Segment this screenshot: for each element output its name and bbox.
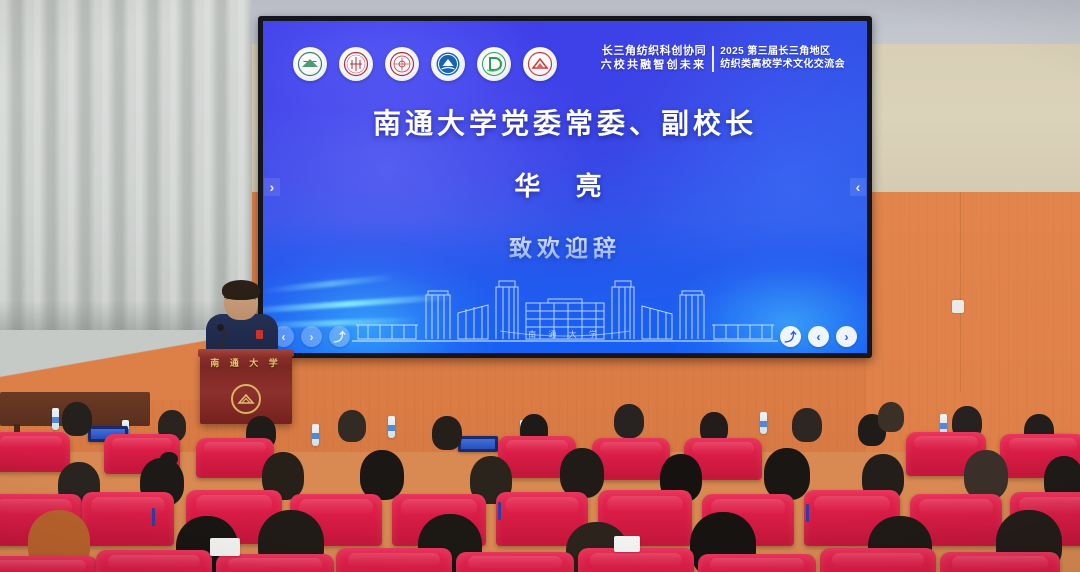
logo-ntu	[293, 47, 327, 81]
attendee-head	[878, 402, 904, 432]
water-bottle	[312, 424, 319, 446]
podium-nameplate: 南 通 大 学	[200, 356, 292, 369]
logo-zhejiang-sci-tech	[431, 47, 465, 81]
attendee-head	[432, 416, 462, 450]
conference-photo: 长三角纺织科创协同 六校共融智创未来 2025 第三届长三角地区 纺织类高校学术…	[0, 0, 1080, 572]
seat	[940, 552, 1060, 572]
banner-right-line-1: 2025 第三届长三角地区	[720, 46, 845, 59]
campus-line-art: 南 通 大 学	[350, 261, 780, 349]
speaker-badge	[256, 330, 263, 339]
seat	[82, 492, 174, 546]
slide-title-line-1: 南通大学党委常委、副校长	[263, 109, 867, 140]
attendee-head	[560, 448, 604, 498]
lanyard	[152, 508, 155, 526]
seat	[0, 432, 70, 472]
banner-left-line-2: 六校共融智创未来	[601, 59, 707, 73]
slide-edge-next-icon[interactable]: ›	[264, 178, 280, 196]
logo-green-d	[477, 47, 511, 81]
slide-banner: 长三角纺织科创协同 六校共融智创未来 2025 第三届长三角地区 纺织类高校学术…	[601, 45, 845, 73]
seat	[96, 550, 212, 572]
slide-edge-prev-icon[interactable]: ‹	[850, 178, 866, 196]
seat	[820, 548, 936, 572]
slide-title-line-2: 华 亮	[263, 166, 867, 203]
microphone-icon	[217, 324, 224, 331]
attendee-hair-bun	[160, 452, 178, 466]
attendee-head	[338, 410, 366, 442]
audience-area	[0, 398, 1080, 572]
attendee-head	[360, 450, 404, 500]
wall-outlet	[952, 300, 964, 313]
wall-seam	[960, 192, 961, 392]
handout-paper	[210, 538, 240, 556]
seat	[216, 554, 334, 572]
water-bottle	[388, 416, 395, 438]
attendee-head	[614, 404, 644, 438]
logo-donghua	[339, 47, 373, 81]
speaker-glasses	[226, 297, 256, 305]
banner-divider	[712, 46, 714, 72]
slide-next-icon[interactable]: ›	[836, 326, 857, 347]
logo-red-mountain	[523, 47, 557, 81]
slide-next-ghost-icon[interactable]: ›	[301, 326, 322, 347]
slide-controls-right: ⤴ ‹ ›	[780, 326, 857, 347]
banner-left-line-1: 长三角纺织科创协同	[601, 45, 707, 59]
attendee-head	[792, 408, 822, 442]
lanyard	[498, 502, 501, 520]
water-bottle	[760, 412, 767, 434]
presentation-slide[interactable]: 长三角纺织科创协同 六校共融智创未来 2025 第三届长三角地区 纺织类高校学术…	[263, 21, 867, 353]
seat	[456, 552, 574, 572]
slide-prev-icon[interactable]: ‹	[808, 326, 829, 347]
campus-art-label: 南 通 大 学	[528, 329, 602, 339]
attendee-head	[964, 450, 1008, 500]
attendee-head	[62, 402, 92, 436]
handout-paper	[614, 536, 640, 552]
seat	[0, 556, 98, 572]
slide-share-icon[interactable]: ⤴	[780, 326, 801, 347]
logo-jiangnan	[385, 47, 419, 81]
attendee-head	[764, 448, 810, 500]
university-logo-row	[293, 47, 557, 81]
banner-right-line-2: 纺织类高校学术文化交流会	[720, 59, 845, 72]
seat	[336, 548, 452, 572]
slide-share-ghost-icon[interactable]: ⤴	[329, 326, 350, 347]
lanyard	[806, 504, 809, 522]
seat	[698, 554, 816, 572]
led-screen-bezel: 长三角纺织科创协同 六校共融智创未来 2025 第三届长三角地区 纺织类高校学术…	[258, 16, 872, 358]
laptop	[458, 436, 498, 452]
water-bottle	[52, 408, 59, 430]
